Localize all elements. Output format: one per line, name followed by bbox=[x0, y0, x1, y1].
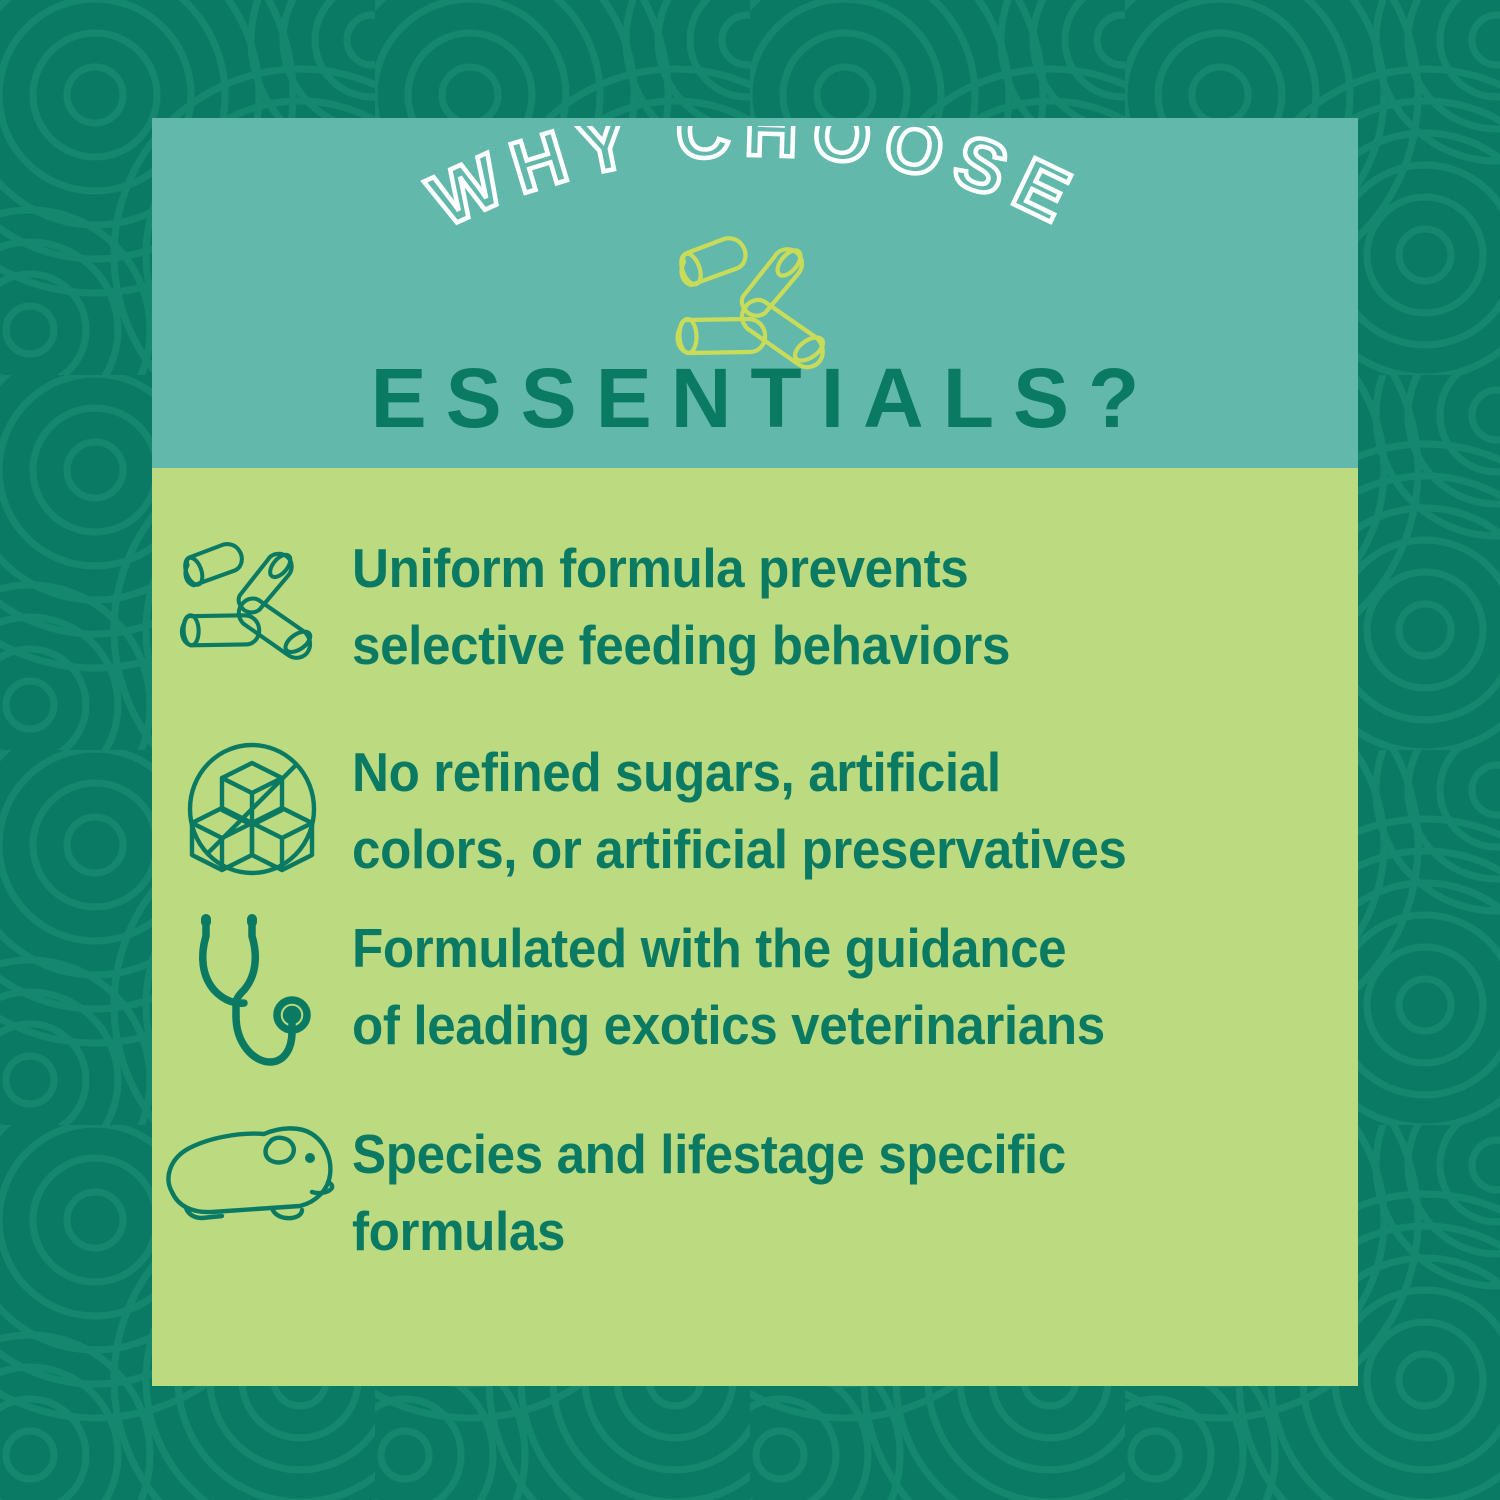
benefit-line: Uniform formula prevents bbox=[352, 530, 1010, 607]
arch-headline-text: WHY CHOOSE bbox=[417, 126, 1094, 243]
why-choose-essentials-poster: WHY CHOOSE bbox=[0, 0, 1500, 1500]
list-item: Species and lifestage specific formulas bbox=[152, 1116, 1358, 1270]
benefits-panel: Uniform formula prevents selective feedi… bbox=[152, 468, 1358, 1386]
kibble-pellets-icon bbox=[152, 530, 352, 664]
benefit-line: colors, or artificial preservatives bbox=[352, 811, 1127, 888]
stethoscope-icon bbox=[152, 910, 352, 1072]
benefit-line: Formulated with the guidance bbox=[352, 910, 1105, 987]
guinea-pig-icon bbox=[152, 1116, 352, 1230]
benefit-text: Formulated with the guidance of leading … bbox=[352, 910, 1105, 1064]
list-item: No refined sugars, artificial colors, or… bbox=[152, 734, 1358, 888]
benefit-text: Uniform formula prevents selective feedi… bbox=[352, 530, 1010, 684]
page-title: ESSENTIALS? bbox=[152, 350, 1358, 446]
benefit-text: No refined sugars, artificial colors, or… bbox=[352, 734, 1127, 888]
list-item: Formulated with the guidance of leading … bbox=[152, 910, 1358, 1072]
benefit-line: formulas bbox=[352, 1193, 1066, 1270]
header-panel: WHY CHOOSE bbox=[152, 118, 1358, 468]
benefit-text: Species and lifestage specific formulas bbox=[352, 1116, 1066, 1270]
list-item: Uniform formula prevents selective feedi… bbox=[152, 530, 1358, 684]
benefit-line: Species and lifestage specific bbox=[352, 1116, 1066, 1193]
no-sugar-cubes-icon bbox=[152, 734, 352, 880]
benefit-line: selective feeding behaviors bbox=[352, 607, 1010, 684]
arch-headline-textpath: WHY CHOOSE bbox=[417, 126, 1094, 243]
benefit-line: of leading exotics veterinarians bbox=[352, 987, 1105, 1064]
benefit-line: No refined sugars, artificial bbox=[352, 734, 1127, 811]
